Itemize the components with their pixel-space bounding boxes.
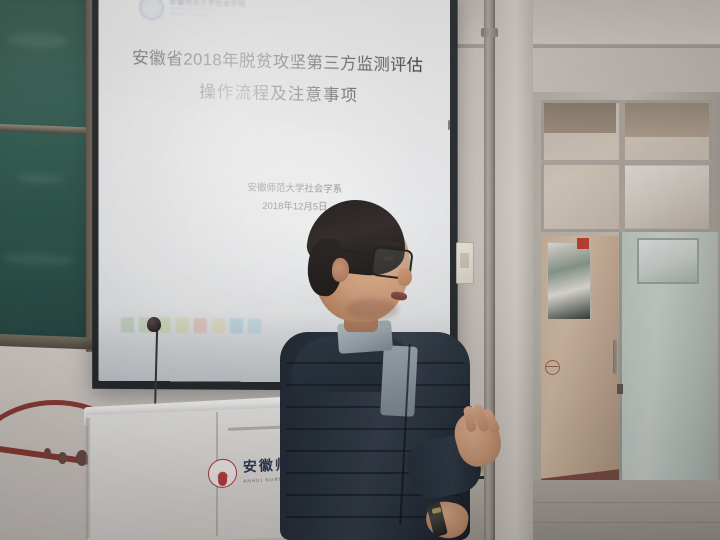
transom-glass-reflection-left (544, 103, 616, 133)
wall-hook (448, 120, 450, 130)
chin-shadow (346, 298, 398, 320)
corridor-poster (547, 242, 591, 320)
gooseneck-microphone-icon (147, 317, 161, 332)
wall-dot-2 (58, 452, 67, 464)
classroom-door-unit[interactable] (533, 92, 720, 540)
ceiling-cornice (430, 44, 720, 48)
floor-tile-seam-1 (533, 502, 720, 503)
wall-dot-1 (44, 448, 51, 457)
door-handle[interactable] (613, 340, 618, 374)
floor-tile-seam-2 (533, 522, 720, 523)
presenter (286, 186, 512, 540)
inner-shirt (380, 345, 418, 417)
slide-swatch-6 (212, 318, 225, 333)
pipe-collar (481, 28, 498, 37)
transom-glass-reflection-right (625, 103, 709, 137)
transom-mullion-vertical (619, 100, 625, 232)
transom-mullion-horizontal (541, 160, 712, 165)
slide-title: 安徽省2018年脱贫攻坚第三方监测评估 操作流程及注意事项 (119, 46, 436, 111)
door-latch[interactable] (617, 384, 623, 394)
slide-university-logo: 安徽师范大学社会学院 Institute of Sociology Normal… (139, 0, 260, 28)
slide-swatch-4 (176, 318, 189, 333)
slide-color-swatches (121, 317, 261, 334)
podium-left-edge (86, 418, 90, 538)
slide-title-line2: 操作流程及注意事项 (119, 78, 436, 111)
slide-swatch-5 (194, 318, 207, 333)
door-upper-window (637, 238, 699, 284)
nose (397, 267, 413, 286)
corridor-poster-red-accent (577, 238, 589, 249)
university-seal-icon (139, 0, 164, 20)
photo-scene: 安徽师范大学社会学院 Institute of Sociology Normal… (0, 0, 720, 540)
slide-swatch-7 (230, 318, 243, 333)
slide-swatch-1 (121, 317, 134, 332)
slide-swatch-8 (248, 319, 261, 334)
slide-title-line1: 安徽省2018年脱贫攻坚第三方监测评估 (119, 46, 436, 79)
ceiling (430, 0, 720, 46)
corridor-sign-icon (545, 360, 560, 375)
corridor-floor (533, 480, 720, 540)
anhui-normal-university-seal-icon (208, 458, 238, 489)
slide-logo-en-line2: Normal University (169, 12, 246, 19)
